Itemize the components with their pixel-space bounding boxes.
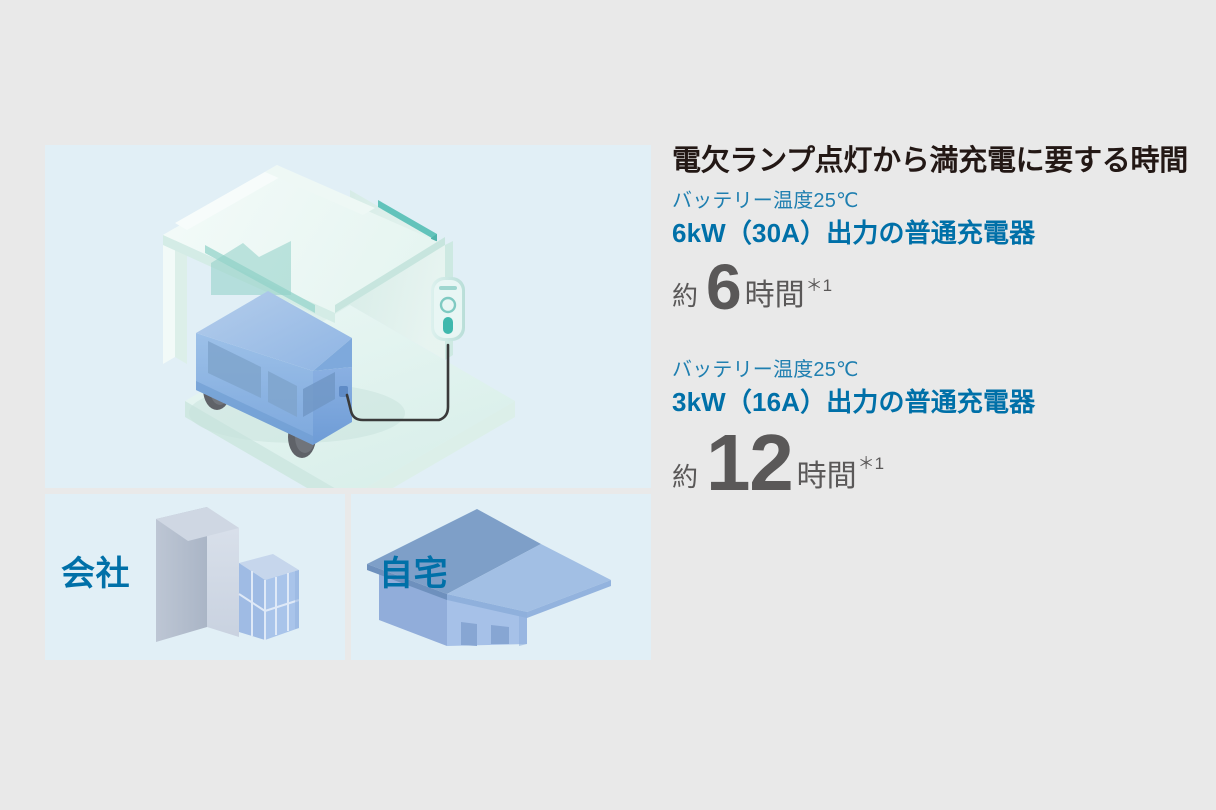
page-root: 会社 自 xyxy=(0,0,1216,810)
charger-spec-1: 6kW（30A）出力の普通充電器 xyxy=(672,217,1202,251)
spec-block-3kw: バッテリー温度25℃ 3kW（16A）出力の普通充電器 約 12 時間 ＊1 xyxy=(672,357,1202,492)
page-title: 電欠ランプ点灯から満充電に要する時間 xyxy=(672,145,1202,178)
office-tower-shape xyxy=(156,507,239,642)
charger-spec-2: 3kW（16A）出力の普通充電器 xyxy=(672,386,1202,420)
office-annex-shape xyxy=(239,554,299,640)
spec-block-6kw: バッテリー温度25℃ 6kW（30A）出力の普通充電器 約 6 時間 ＊1 xyxy=(672,188,1202,311)
battery-temperature-note-2: バッテリー温度25℃ xyxy=(672,357,1202,383)
duration-approx-2: 約 xyxy=(672,464,698,490)
battery-temperature-note-1: バッテリー温度25℃ xyxy=(672,188,1202,214)
duration-approx-1: 約 xyxy=(672,283,698,309)
duration-number-2: 12 xyxy=(698,430,795,496)
duration-1: 約 6 時間 ＊1 xyxy=(672,257,1202,311)
carport-ev-charging-illustration xyxy=(45,145,651,488)
home-label: 自宅 xyxy=(379,557,448,591)
duration-unit-2: 時間 xyxy=(795,462,857,492)
duration-footnote-2: ＊1 xyxy=(857,455,884,472)
duration-number-1: 6 xyxy=(698,261,743,313)
charging-time-info: 電欠ランプ点灯から満充電に要する時間 バッテリー温度25℃ 6kW（30A）出力… xyxy=(672,145,1202,492)
office-label: 会社 xyxy=(61,557,130,591)
duration-2: 約 12 時間 ＊1 xyxy=(672,426,1202,492)
duration-footnote-1: ＊1 xyxy=(805,277,832,294)
duration-unit-1: 時間 xyxy=(743,281,805,311)
wall-charger-icon xyxy=(431,277,465,341)
carport-illustration-panel xyxy=(45,145,651,488)
